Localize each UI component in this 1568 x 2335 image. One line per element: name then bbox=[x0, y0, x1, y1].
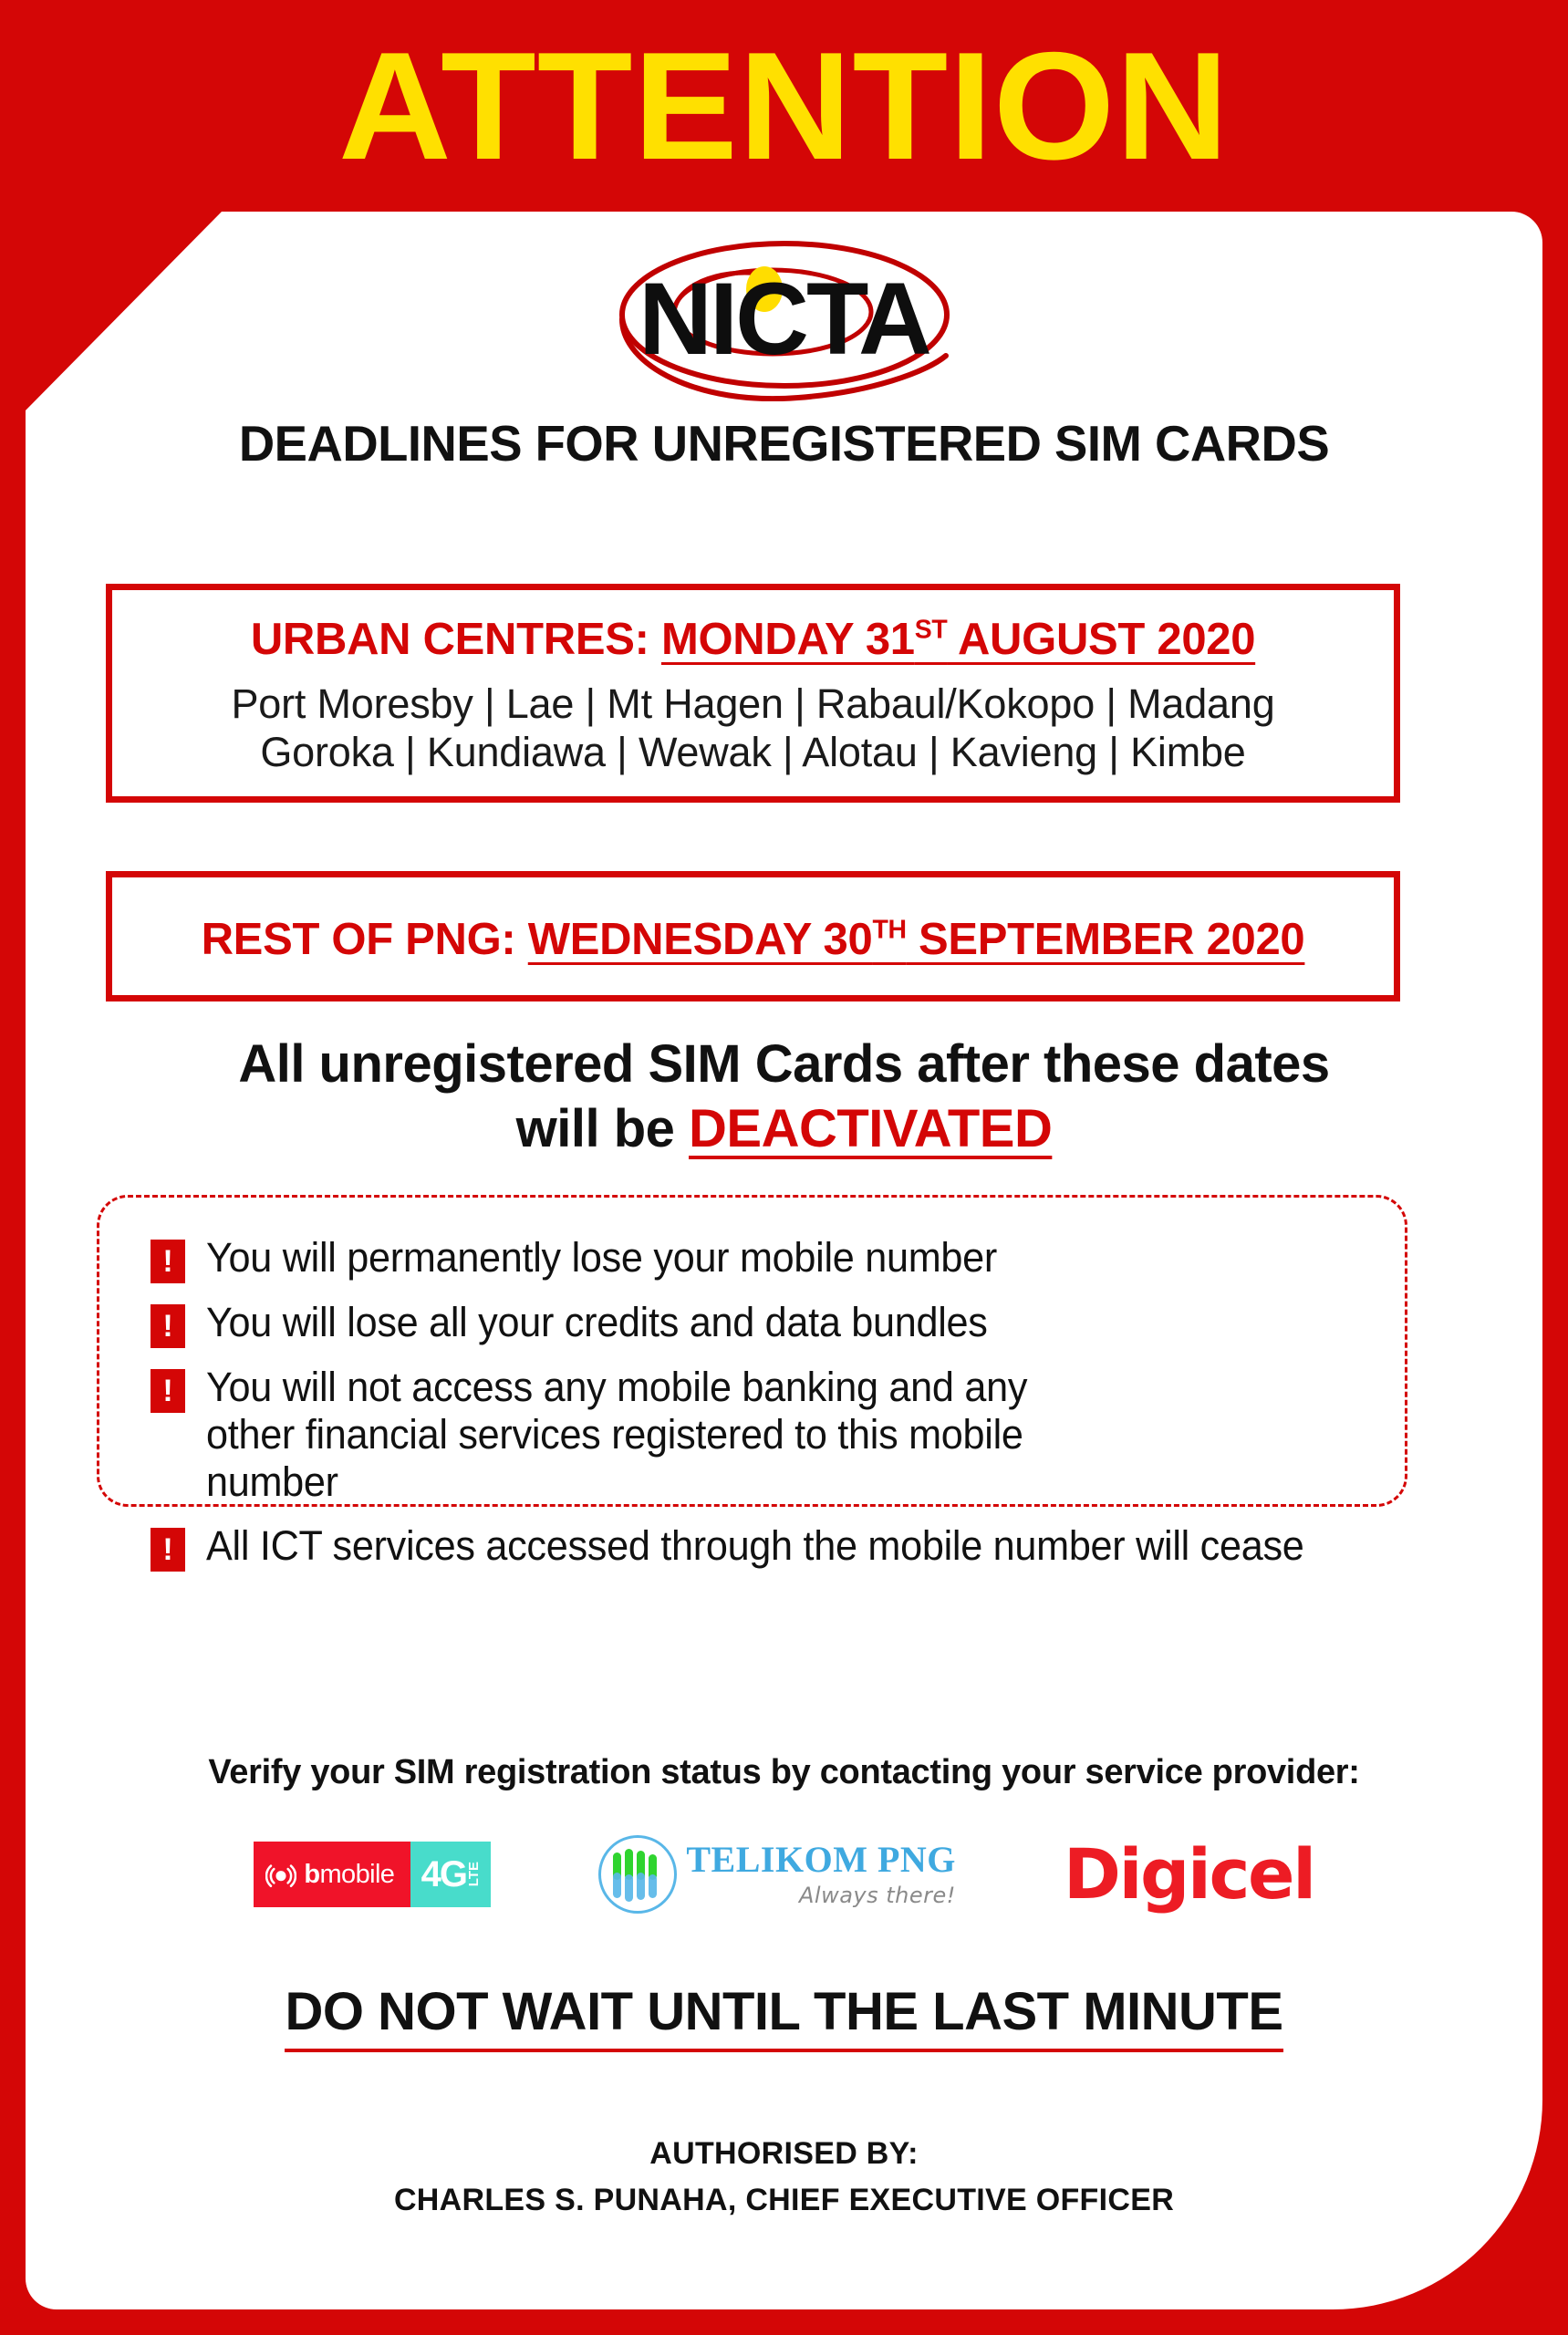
urban-date-suffix: AUGUST 2020 bbox=[947, 615, 1255, 664]
warning-text: All ICT services accessed through the mo… bbox=[206, 1522, 1303, 1570]
rest-of-png-date: WEDNESDAY 30TH SEPTEMBER 2020 bbox=[528, 915, 1305, 964]
warning-item: ! You will not access any mobile banking… bbox=[151, 1364, 1354, 1507]
telikom-circle-bars-icon bbox=[598, 1835, 677, 1914]
urban-date-prefix: MONDAY 31 bbox=[661, 615, 915, 664]
urban-centres-label: URBAN CENTRES: bbox=[251, 615, 661, 664]
rest-of-png-heading: REST OF PNG: WEDNESDAY 30TH SEPTEMBER 20… bbox=[112, 914, 1394, 965]
authorisation-label: AUTHORISED BY: bbox=[26, 2136, 1542, 2172]
warning-item: ! You will lose all your credits and dat… bbox=[151, 1299, 1354, 1348]
rest-date-prefix: WEDNESDAY 30 bbox=[528, 915, 873, 964]
deactivation-line-2: will be DEACTIVATED bbox=[26, 1097, 1542, 1162]
page-title: ATTENTION bbox=[0, 26, 1568, 186]
telikom-text-block: TELIKOM PNG Always there! bbox=[686, 1842, 956, 1908]
telikom-wordmark: TELIKOM PNG bbox=[686, 1842, 956, 1878]
exclamation-icon: ! bbox=[151, 1369, 185, 1413]
deactivation-notice: All unregistered SIM Cards after these d… bbox=[26, 1033, 1542, 1162]
rest-of-png-box: REST OF PNG: WEDNESDAY 30TH SEPTEMBER 20… bbox=[106, 871, 1400, 1001]
warnings-panel: ! You will permanently lose your mobile … bbox=[97, 1195, 1407, 1507]
bmobile-signal-icon bbox=[265, 1859, 296, 1890]
warning-text: You will not access any mobile banking a… bbox=[206, 1364, 1116, 1507]
nicta-logo: NICTA bbox=[570, 228, 999, 401]
bmobile-4g-block: 4G LTE bbox=[410, 1842, 491, 1907]
nicta-wordmark: NICTA bbox=[570, 268, 999, 370]
urban-city-list: Port Moresby | Lae | Mt Hagen | Rabaul/K… bbox=[112, 680, 1394, 776]
rest-date-superscript: TH bbox=[872, 916, 906, 945]
exclamation-icon: ! bbox=[151, 1240, 185, 1283]
warning-text: You will lose all your credits and data … bbox=[206, 1299, 988, 1346]
exclamation-icon: ! bbox=[151, 1528, 185, 1572]
warning-text: You will permanently lose your mobile nu… bbox=[206, 1234, 997, 1282]
rest-date-suffix: SEPTEMBER 2020 bbox=[907, 915, 1305, 964]
urban-date-superscript: ST bbox=[915, 616, 948, 645]
bmobile-wordmark: bmobile bbox=[304, 1862, 394, 1888]
warning-item: ! You will permanently lose your mobile … bbox=[151, 1234, 1354, 1283]
section-title: DEADLINES FOR UNREGISTERED SIM CARDS bbox=[33, 414, 1534, 472]
telikom-logo: TELIKOM PNG Always there! bbox=[598, 1831, 956, 1918]
deactivation-prefix: will be bbox=[516, 1099, 689, 1158]
authorisation-name: CHARLES S. PUNAHA, CHIEF EXECUTIVE OFFIC… bbox=[26, 2183, 1542, 2218]
digicel-logo: Digicel bbox=[1064, 1840, 1314, 1909]
verify-instruction: Verify your SIM registration status by c… bbox=[26, 1753, 1542, 1792]
authorisation-block: AUTHORISED BY: CHARLES S. PUNAHA, CHIEF … bbox=[26, 2136, 1542, 2218]
telikom-tagline: Always there! bbox=[686, 1883, 956, 1908]
telikom-bars bbox=[601, 1838, 674, 1911]
nicta-logo-wrapper: NICTA bbox=[26, 228, 1542, 401]
city-line-2: Goroka | Kundiawa | Wewak | Alotau | Kav… bbox=[112, 728, 1394, 776]
urban-centres-date: MONDAY 31ST AUGUST 2020 bbox=[661, 615, 1255, 664]
bmobile-name-rest: mobile bbox=[319, 1860, 394, 1889]
deactivation-line-1: All unregistered SIM Cards after these d… bbox=[26, 1033, 1542, 1097]
bmobile-lte-label: LTE bbox=[467, 1862, 481, 1886]
bmobile-name-bold: b bbox=[304, 1860, 319, 1889]
rest-of-png-label: REST OF PNG: bbox=[202, 915, 528, 964]
bmobile-red-block: bmobile bbox=[254, 1842, 410, 1907]
bmobile-logo: bmobile 4G LTE bbox=[254, 1842, 491, 1907]
urban-centres-heading: URBAN CENTRES: MONDAY 31ST AUGUST 2020 bbox=[112, 614, 1394, 665]
sim-card-panel: NICTA DEADLINES FOR UNREGISTERED SIM CAR… bbox=[26, 212, 1542, 2309]
provider-logos: bmobile 4G LTE bbox=[26, 1831, 1542, 1918]
warning-item: ! All ICT services accessed through the … bbox=[151, 1522, 1354, 1572]
bmobile-4g-label: 4G bbox=[421, 1856, 466, 1893]
call-to-action: DO NOT WAIT UNTIL THE LAST MINUTE bbox=[26, 1981, 1542, 2042]
deactivated-highlight: DEACTIVATED bbox=[689, 1099, 1052, 1158]
exclamation-icon: ! bbox=[151, 1304, 185, 1348]
city-line-1: Port Moresby | Lae | Mt Hagen | Rabaul/K… bbox=[112, 680, 1394, 728]
urban-centres-box: URBAN CENTRES: MONDAY 31ST AUGUST 2020 P… bbox=[106, 584, 1400, 803]
call-to-action-text: DO NOT WAIT UNTIL THE LAST MINUTE bbox=[285, 1982, 1282, 2052]
poster-root: ATTENTION NICTA DEADLINES FOR UNREGISTER… bbox=[0, 0, 1568, 2335]
